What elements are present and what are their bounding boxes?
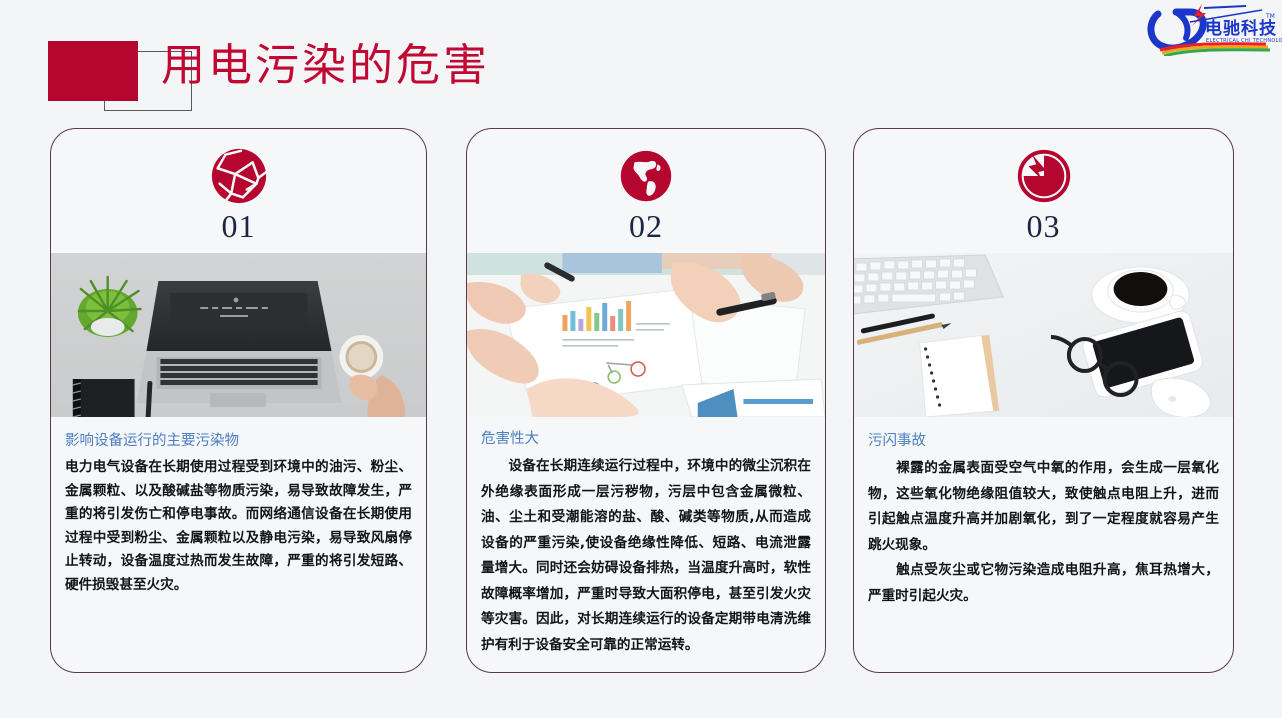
card-body-03: 污闪事故 裸露的金属表面受空气中氧的作用，会生成一层氧化物，这些氧化物绝缘阻值较… <box>854 417 1233 609</box>
card-number-02: 02 <box>467 209 825 243</box>
card-subtitle-03: 污闪事故 <box>868 431 1219 451</box>
logo-svg: 电驰科技 TM ELECTRICAL CHI TECHNOLOGY <box>1142 0 1282 56</box>
page-title: 用电污染的危害 <box>161 36 490 96</box>
title-accent-square <box>48 41 138 101</box>
card-subtitle-02: 危害性大 <box>481 429 811 449</box>
pie-chart-slice-icon <box>1013 145 1075 207</box>
card-header-02: 02 <box>467 145 825 253</box>
globe-americas-icon <box>615 145 677 207</box>
card-number-03: 03 <box>854 209 1233 243</box>
card-body-01: 影响设备运行的主要污染物 电力电气设备在长期使用过程受到环境中的油污、粉尘、金属… <box>51 417 426 597</box>
slide-root: 电驰科技 TM ELECTRICAL CHI TECHNOLOGY 用电污染的危… <box>0 0 1282 718</box>
svg-text:TM: TM <box>1265 13 1275 20</box>
card-subtitle-01: 影响设备运行的主要污染物 <box>65 431 412 451</box>
svg-text:电驰科技: 电驰科技 <box>1205 18 1277 39</box>
card-body-02: 危害性大 设备在长期连续运行过程中，环境中的微尘沉积在外绝缘表面形成一层污秽物，… <box>467 417 825 658</box>
network-globe-icon <box>208 145 270 207</box>
company-logo: 电驰科技 TM ELECTRICAL CHI TECHNOLOGY <box>1142 0 1282 56</box>
team-charts-meeting-photo <box>467 253 825 417</box>
card-paragraph-03-b: 触点受灰尘或它物污染造成电阻升高，焦耳热增大，严重时引起火灾。 <box>868 558 1219 609</box>
card-header-01: 01 <box>51 145 426 253</box>
card-paragraph-02: 设备在长期连续运行过程中，环境中的微尘沉积在外绝缘表面形成一层污秽物，污层中包含… <box>481 454 811 658</box>
content-card-02: 02 <box>466 128 826 673</box>
card-paragraph-01: 电力电气设备在长期使用过程受到环境中的油污、粉尘、金属颗粒、以及酸碱盐等物质污染… <box>65 456 412 597</box>
white-office-desk-photo <box>854 253 1233 417</box>
content-card-01: 01 <box>50 128 427 673</box>
laptop-desk-photo <box>51 253 426 417</box>
slide-title-block: 用电污染的危害 <box>48 36 668 114</box>
card-paragraph-03-a: 裸露的金属表面受空气中氧的作用，会生成一层氧化物，这些氧化物绝缘阻值较大，致使触… <box>868 456 1219 558</box>
card-header-03: 03 <box>854 145 1233 253</box>
card-number-01: 01 <box>51 209 426 243</box>
content-card-03: 03 <box>853 128 1234 673</box>
